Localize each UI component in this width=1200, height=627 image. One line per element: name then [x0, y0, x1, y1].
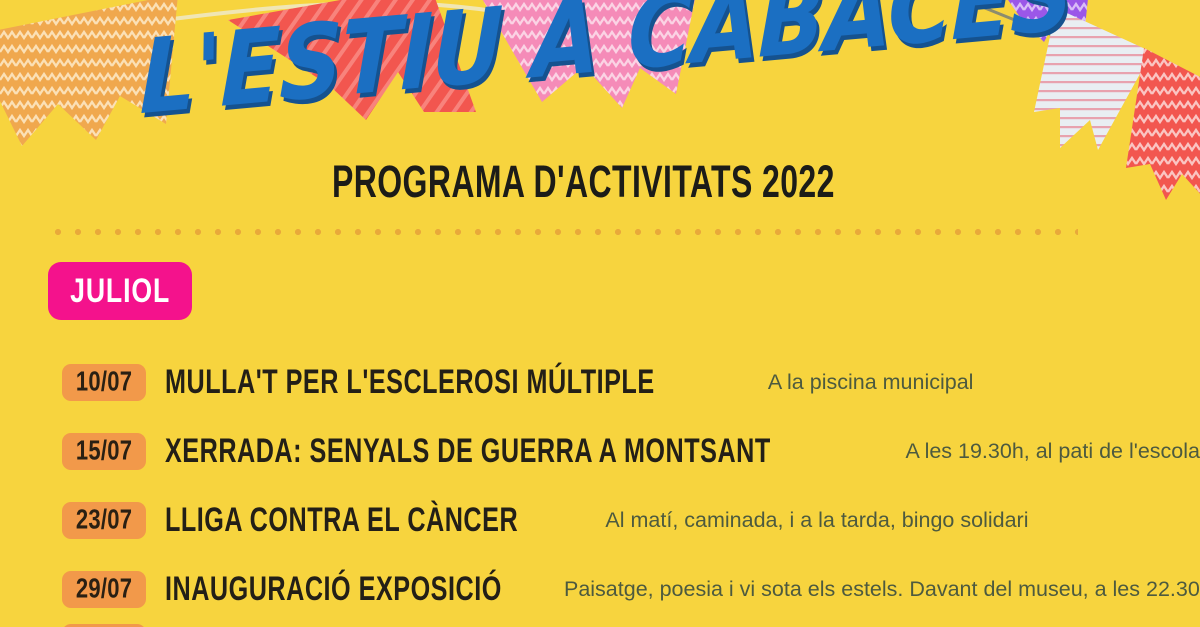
event-title: MULLA'T PER L'ESCLEROSI MÚLTIPLE — [165, 363, 655, 401]
event-date-badge: 10/07 — [62, 364, 146, 401]
event-date: 29/07 — [76, 574, 132, 606]
event-title: INAUGURACIÓ EXPOSICIÓ — [165, 570, 502, 608]
dotted-divider — [48, 228, 1078, 236]
event-date-badge: 29/07 — [62, 571, 146, 608]
page-subtitle: PROGRAMA D'ACTIVITATS 2022 — [332, 157, 835, 208]
event-description: A les 19.30h, al pati de l'escola — [905, 439, 1200, 464]
event-date-badge: 15/07 — [62, 433, 146, 470]
event-description: A la piscina municipal — [768, 370, 974, 395]
list-item: 10/07 MULLA'T PER L'ESCLEROSI MÚLTIPLE A… — [0, 348, 1200, 417]
event-date: 10/07 — [76, 367, 132, 399]
month-badge-juliol: JULIOL — [48, 262, 192, 320]
event-description: Al matí, caminada, i a la tarda, bingo s… — [605, 508, 1028, 533]
event-date-badge: 23/07 — [62, 502, 146, 539]
event-list: 10/07 MULLA'T PER L'ESCLEROSI MÚLTIPLE A… — [0, 348, 1200, 627]
event-date: 15/07 — [76, 436, 132, 468]
month-badge-label: JULIOL — [70, 271, 170, 311]
list-item: 15/07 XERRADA: SENYALS DE GUERRA A MONTS… — [0, 417, 1200, 486]
event-title: XERRADA: SENYALS DE GUERRA A MONTSANT — [165, 432, 771, 470]
list-item: 23/07 LLIGA CONTRA EL CÀNCER Al matí, ca… — [0, 486, 1200, 555]
event-title: LLIGA CONTRA EL CÀNCER — [165, 501, 518, 539]
poster-header: L'ESTIU A CABACÉS PROGRAMA D'ACTIVITATS … — [0, 0, 1200, 165]
event-date: 23/07 — [76, 505, 132, 537]
list-item: 29/07 INAUGURACIÓ EXPOSICIÓ Paisatge, po… — [0, 555, 1200, 624]
page-title: L'ESTIU A CABACÉS — [139, 0, 1073, 138]
event-description: Paisatge, poesia i vi sota els estels. D… — [564, 577, 1200, 602]
